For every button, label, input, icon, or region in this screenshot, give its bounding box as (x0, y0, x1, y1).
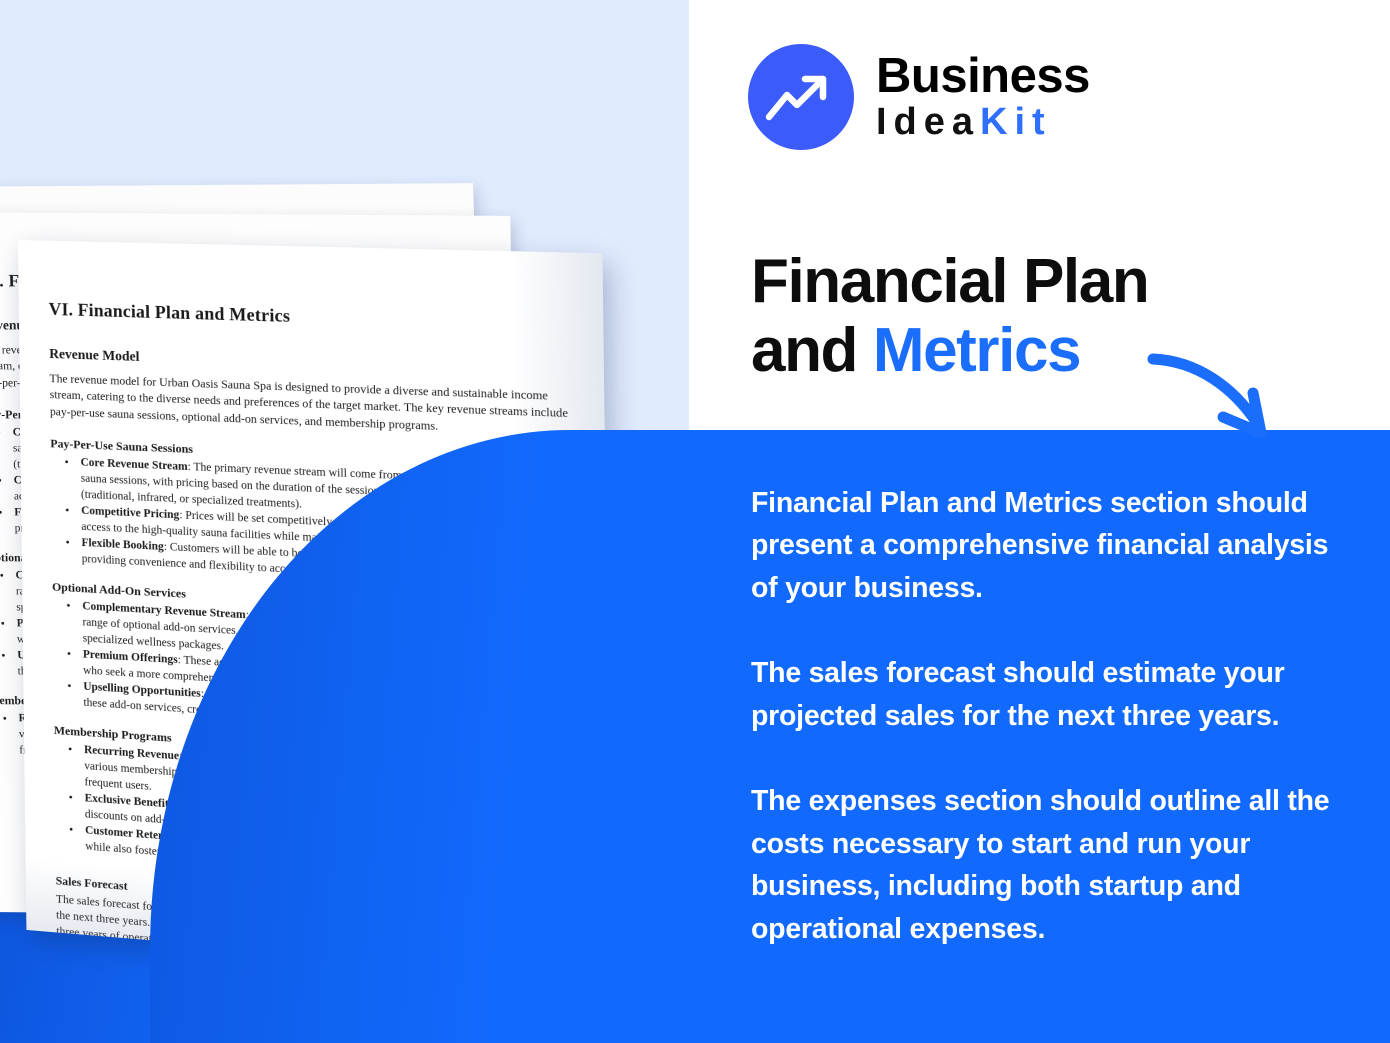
logo-text-kit: Kit (980, 101, 1052, 143)
logo-text-business: Business (876, 51, 1090, 102)
logo-text-idea-kit: IdeaKit (876, 103, 1090, 143)
body-paragraph-2: The sales forecast should estimate your … (751, 652, 1351, 737)
curved-arrow-down-right-icon (1145, 345, 1295, 450)
trending-up-circle-icon (748, 44, 854, 150)
bullet-term: Flexible Booking (82, 537, 164, 553)
page-title-line-1: Financial Plan (751, 247, 1351, 316)
doc-section-paragraph-revenue-model: The revenue model for Urban Oasis Sauna … (49, 371, 572, 441)
logo-text-idea: Idea (876, 101, 980, 143)
brand-logo: Business IdeaKit (748, 44, 1090, 150)
slide-canvas: VI. Financial Plan and Metrics Revenue M… (0, 0, 1390, 1043)
body-copy: Financial Plan and Metrics section shoul… (751, 482, 1351, 950)
body-paragraph-3: The expenses section should outline all … (751, 780, 1351, 950)
doc-title: VI. Financial Plan and Metrics (49, 299, 571, 336)
page-title-metrics: Metrics (873, 316, 1080, 385)
bullet-term: Core Revenue Stream (81, 457, 188, 474)
page-title-and: and (751, 316, 873, 385)
body-paragraph-1: Financial Plan and Metrics section shoul… (751, 482, 1351, 609)
bullet-term: Competitive Pricing (81, 505, 179, 522)
